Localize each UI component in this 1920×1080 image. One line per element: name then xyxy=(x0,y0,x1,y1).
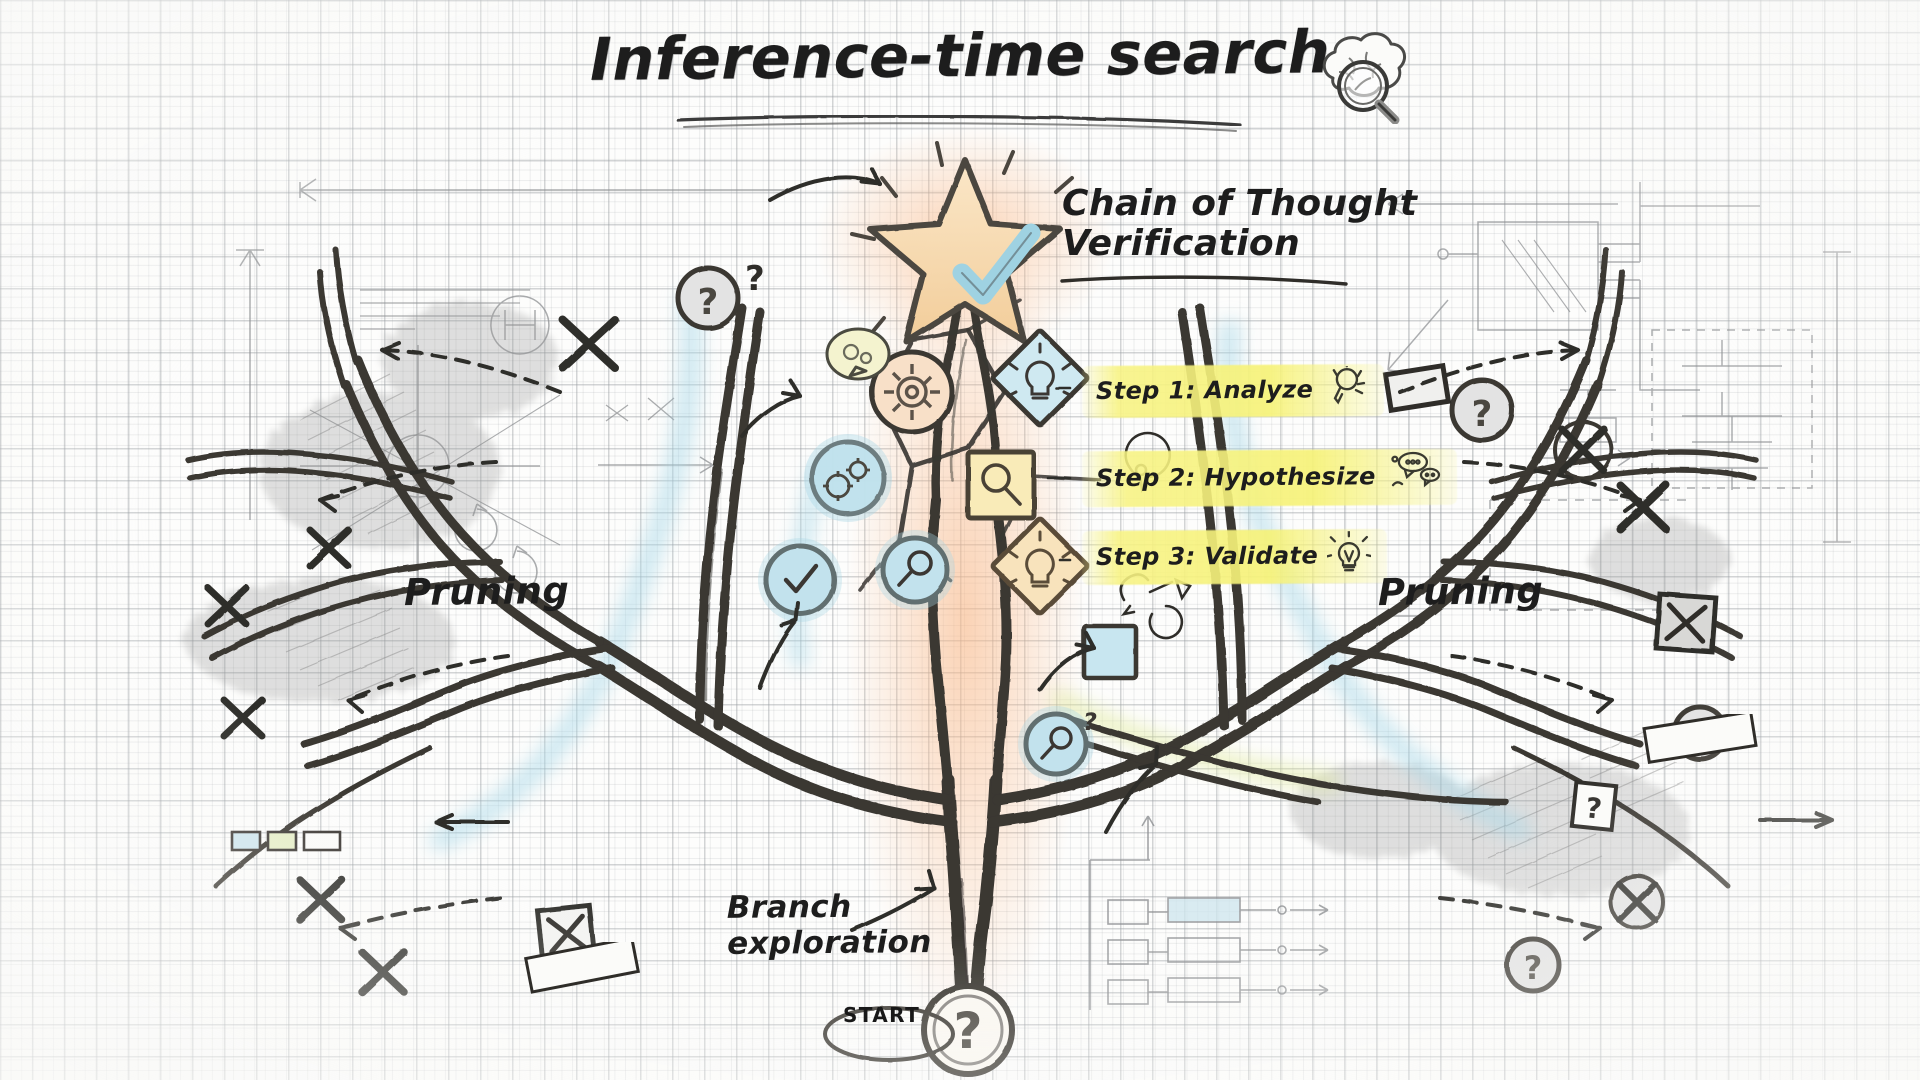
step-2[interactable]: Step 2: Hypothesize xyxy=(1082,447,1457,510)
legend-chips xyxy=(232,832,340,850)
rejected-tag-frame-right xyxy=(1642,714,1762,766)
brain-magnifier-icon xyxy=(1305,28,1425,124)
step-3-label: Step 3: Validate xyxy=(1096,541,1318,571)
node-check-circle xyxy=(758,538,842,622)
svg-text:?: ? xyxy=(698,282,719,323)
goal-label-line2: Verification xyxy=(1062,224,1417,264)
box-right-top xyxy=(1386,366,1449,411)
node-magnifier-circle-mid xyxy=(875,530,955,610)
x-mark xyxy=(300,880,342,920)
title-underline xyxy=(670,112,1250,134)
x-mark-circle xyxy=(1611,876,1663,928)
node-gears-circle xyxy=(804,434,892,522)
svg-text:?: ? xyxy=(1524,949,1543,987)
pruned-q-4: ? xyxy=(1507,939,1559,991)
goal-label-underline xyxy=(1056,272,1356,290)
pruning-label-right: Pruning xyxy=(1378,569,1544,614)
svg-text:?: ? xyxy=(1083,708,1097,736)
x-mark xyxy=(563,320,615,368)
page-title-text: Inference-time search xyxy=(590,22,1331,90)
step-1-label: Step 1: Analyze xyxy=(1096,375,1313,405)
pruned-q-mark-1: ? xyxy=(745,259,765,299)
node-magnifier-square xyxy=(968,452,1034,518)
branch-exploration-line2: exploration xyxy=(727,925,932,963)
page-title: Inference-time search xyxy=(590,22,1331,90)
rejected-tag-frame-left xyxy=(524,942,644,994)
margin-sketch-bottom xyxy=(1090,816,1328,1010)
lightbulb-icon xyxy=(1327,531,1371,579)
step-2-label: Step 2: Hypothesize xyxy=(1096,462,1376,492)
root-question-node[interactable]: ? xyxy=(924,986,1012,1074)
speech-bubbles-icon xyxy=(1385,451,1441,501)
diagram-canvas: ? ? ? ? ? ? ? xyxy=(0,0,1920,1080)
question-box-right: ? xyxy=(1572,782,1616,830)
svg-text:?: ? xyxy=(953,1002,982,1060)
node-square-tile xyxy=(1084,626,1136,678)
idea-sparkle-icon xyxy=(1322,366,1368,412)
svg-text:?: ? xyxy=(1584,791,1604,826)
goal-label-line1: Chain of Thought xyxy=(1062,184,1417,224)
branch-exploration-label: Branch exploration xyxy=(727,889,932,963)
step-1[interactable]: Step 1: Analyze xyxy=(1082,362,1385,420)
svg-text:?: ? xyxy=(1472,394,1493,435)
pruned-q-2: ? xyxy=(1452,380,1512,440)
pruned-q-1: ? xyxy=(678,268,738,328)
start-label: START xyxy=(843,1003,920,1027)
thought-bubble-gears xyxy=(827,329,889,379)
goal-label: Chain of Thought Verification xyxy=(1062,184,1417,265)
x-mark xyxy=(224,700,262,736)
branch-exploration-line1: Branch xyxy=(727,889,932,927)
pruning-label-left: Pruning xyxy=(404,569,570,614)
node-magnifier-circle-low: ? xyxy=(1018,706,1097,782)
x-mark xyxy=(362,952,404,992)
x-box-right xyxy=(1656,594,1716,652)
step-3[interactable]: Step 3: Validate xyxy=(1082,527,1388,587)
